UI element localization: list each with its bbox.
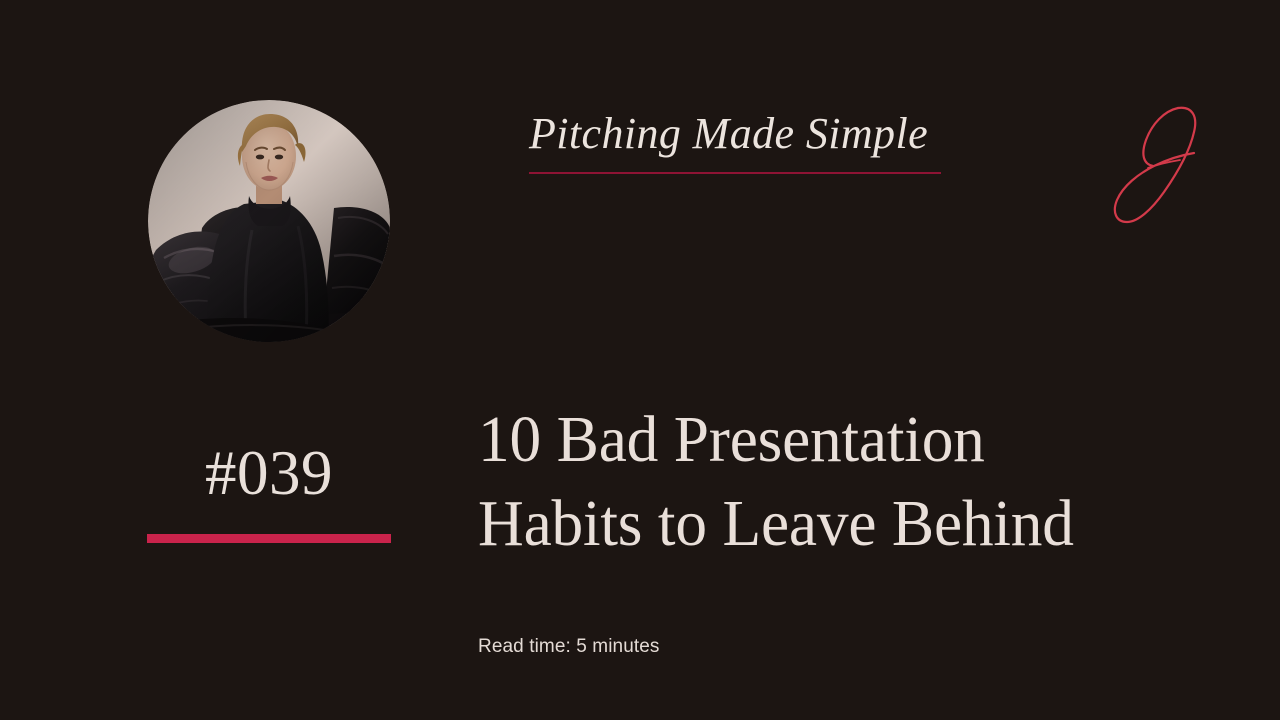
host-portrait-photo [148, 100, 390, 342]
episode-accent-rule [147, 534, 391, 543]
show-title-block: Pitching Made Simple [529, 106, 941, 174]
episode-number: #039 [147, 440, 391, 506]
slide-canvas: #039 Pitching Made Simple 10 Bad Present… [0, 0, 1280, 720]
show-title-accent-rule [529, 172, 941, 174]
headline-line-2: Habits to Leave Behind [478, 482, 1217, 566]
article-headline: 10 Bad Presentation Habits to Leave Behi… [478, 398, 1217, 567]
portrait-illustration [148, 100, 390, 342]
script-j-icon [1108, 98, 1218, 230]
episode-number-block: #039 [147, 440, 391, 543]
script-j-logo [1108, 98, 1218, 230]
headline-line-1: 10 Bad Presentation [478, 398, 1217, 482]
show-title: Pitching Made Simple [529, 106, 941, 161]
read-time-label: Read time: 5 minutes [478, 636, 660, 658]
